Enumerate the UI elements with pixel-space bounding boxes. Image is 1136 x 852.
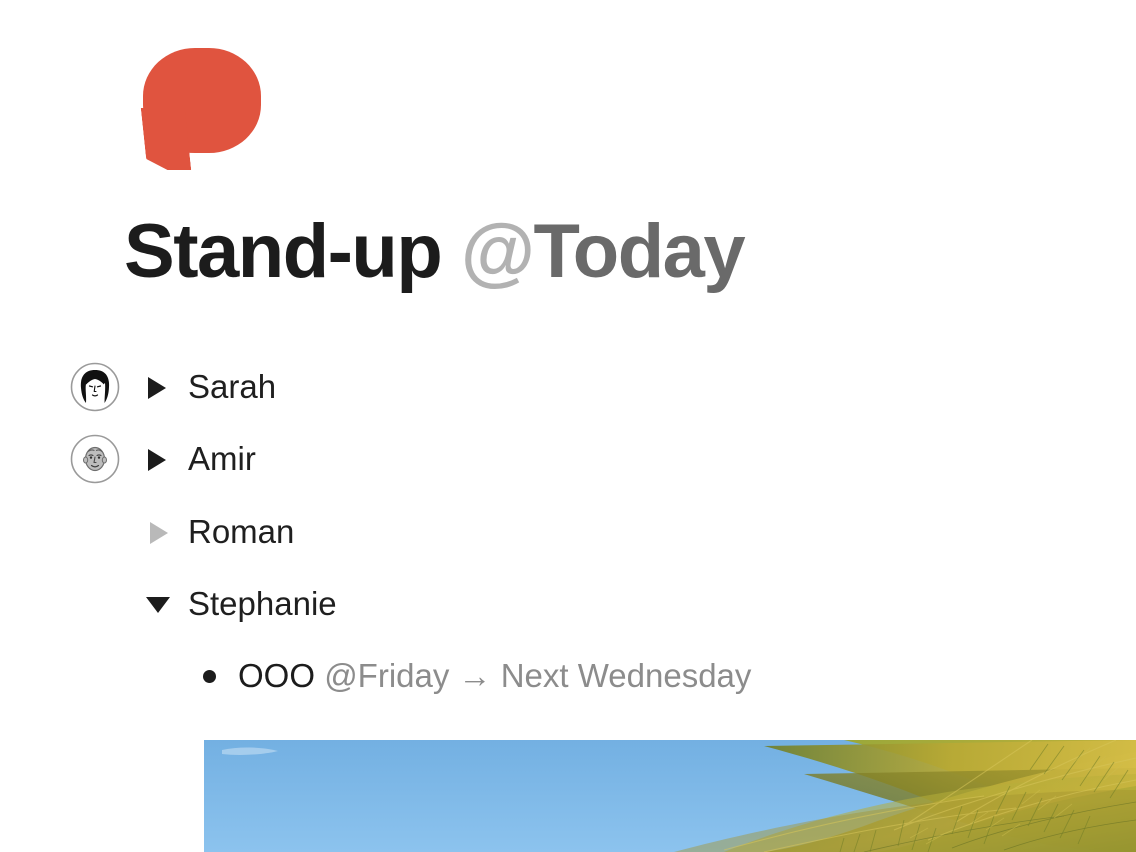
sub-item-strong: OOO: [238, 657, 315, 694]
avatar: [70, 362, 120, 412]
chevron-right-icon[interactable]: [150, 522, 168, 544]
list-item-label: Amir: [188, 434, 256, 484]
chevron-right-icon[interactable]: [148, 377, 166, 399]
list-item-label: Stephanie: [188, 579, 337, 629]
page-title-at-symbol: @: [461, 209, 534, 294]
page-title: Stand-up @Today: [124, 214, 744, 290]
chevron-right-icon[interactable]: [148, 449, 166, 471]
list-item[interactable]: Stephanie: [0, 579, 1136, 629]
speech-bubble-icon: [143, 48, 261, 170]
chevron-down-icon[interactable]: [146, 597, 170, 613]
list-item[interactable]: OOO @Friday → Next Wednesday: [0, 651, 1136, 699]
list-item[interactable]: Amir: [0, 434, 1136, 484]
list-item[interactable]: Roman: [0, 507, 1136, 557]
page-title-main: Stand-up: [124, 209, 441, 294]
list-item-label: Sarah: [188, 362, 276, 412]
avatar: [70, 434, 120, 484]
list-item-label: Roman: [188, 507, 294, 557]
palm-trees-photo[interactable]: [204, 740, 1136, 852]
page-title-date: Today: [534, 209, 745, 294]
sub-item-muted: @Friday → Next Wednesday: [324, 657, 751, 694]
speech-bubble-tail: [141, 108, 192, 170]
list-item[interactable]: Sarah: [0, 362, 1136, 412]
bullet-icon: [203, 670, 216, 683]
sub-item-text: OOO @Friday → Next Wednesday: [238, 651, 751, 701]
